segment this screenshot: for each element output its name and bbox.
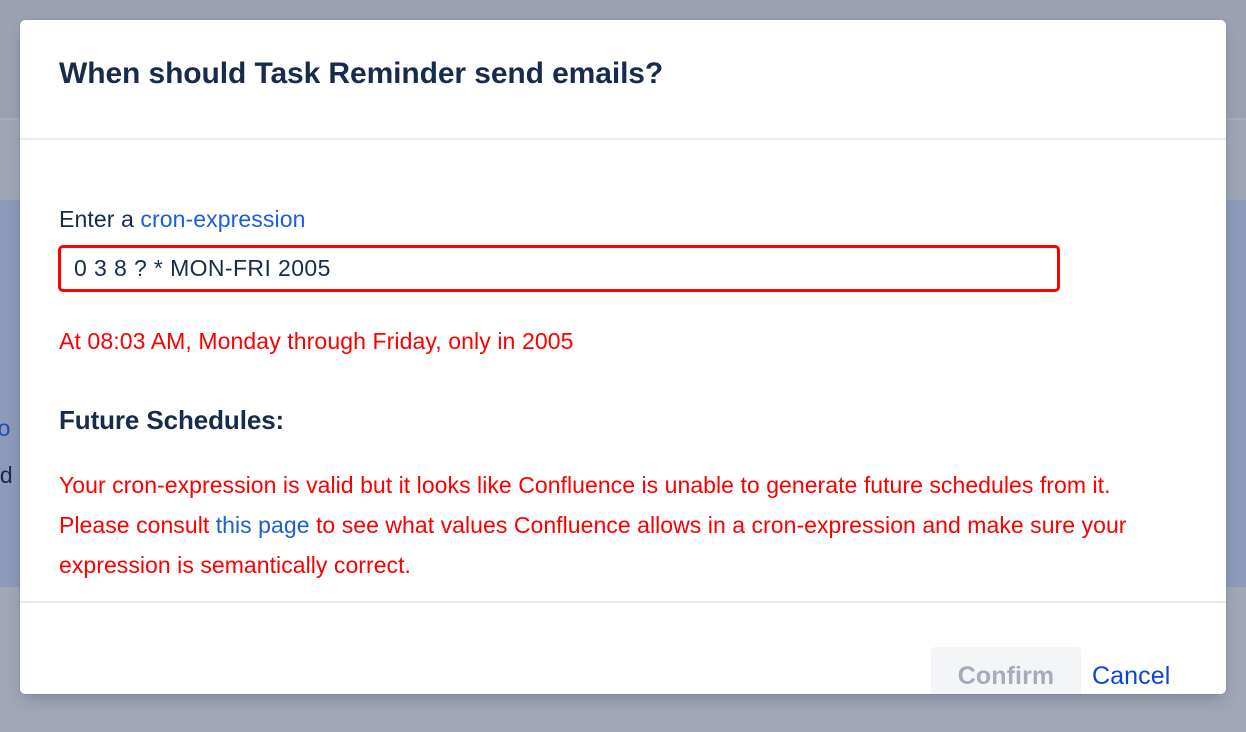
future-schedules-heading: Future Schedules: (59, 405, 284, 436)
backdrop-partial-link-text: co (0, 415, 11, 441)
cron-field-label-prefix: Enter a (59, 206, 140, 232)
dialog-footer: Confirm Cancel (20, 603, 1226, 694)
dialog-body: Enter a cron-expression At 08:03 AM, Mon… (20, 140, 1226, 601)
confirm-button[interactable]: Confirm (931, 647, 1081, 694)
backdrop-partial-plain-text: nd (0, 462, 13, 488)
cron-validation-message: At 08:03 AM, Monday through Friday, only… (59, 328, 574, 355)
cancel-button[interactable]: Cancel (1092, 647, 1170, 694)
future-schedules-message: Your cron-expression is valid but it loo… (59, 465, 1171, 585)
dialog-title: When should Task Reminder send emails? (59, 57, 663, 91)
cron-expression-dialog: When should Task Reminder send emails? E… (20, 20, 1226, 694)
dialog-header: When should Task Reminder send emails? (20, 20, 1226, 138)
cron-expression-input[interactable] (58, 245, 1060, 292)
this-page-link[interactable]: this page (216, 512, 310, 538)
cron-field-label: Enter a cron-expression (59, 206, 306, 233)
cron-expression-link[interactable]: cron-expression (140, 206, 305, 232)
